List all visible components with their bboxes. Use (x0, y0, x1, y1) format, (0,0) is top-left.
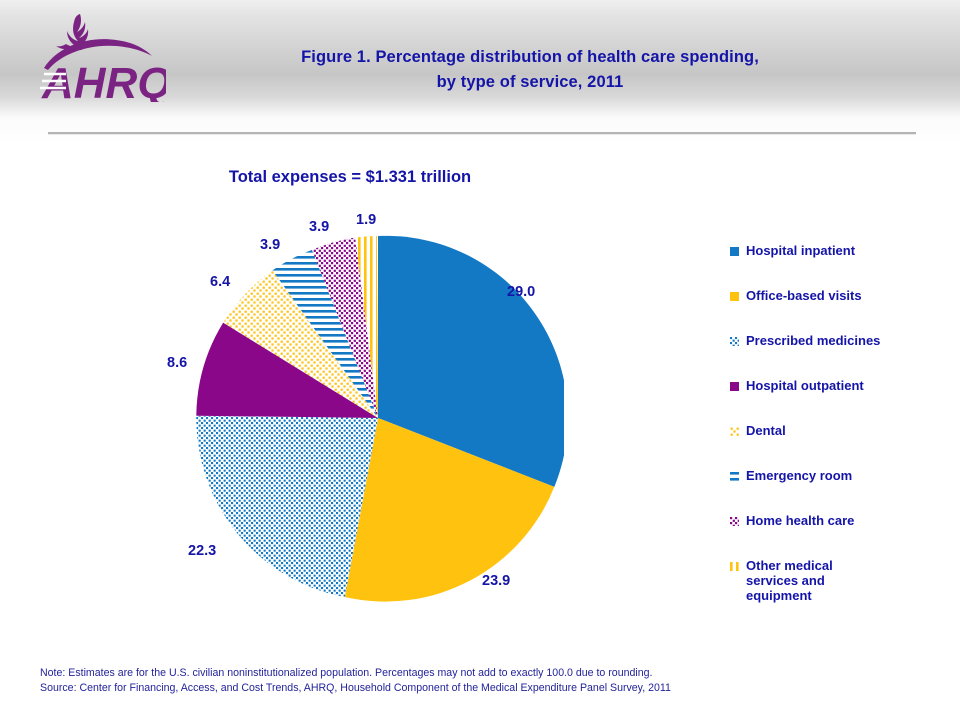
pie-data-label-dental: 6.4 (210, 274, 230, 290)
figure-title-line1: Figure 1. Percentage distribution of hea… (180, 45, 880, 70)
ahrq-logo-graphic: AHRQ (36, 6, 166, 102)
legend-item-office-based-visits[interactable]: Office-based visits (730, 288, 952, 333)
pie-data-label-office-based-visits: 23.9 (482, 573, 510, 589)
legend-item-other-medical[interactable]: Other medical services and equipment (730, 558, 952, 603)
header-fade (0, 118, 960, 144)
legend-label-hospital-inpatient: Hospital inpatient (746, 243, 855, 258)
legend-swatch-emergency-room-icon (730, 472, 739, 481)
pie-data-label-emergency-room: 3.9 (260, 237, 280, 253)
legend-swatch-hospital-outpatient-icon (730, 382, 739, 391)
footnotes: Note: Estimates are for the U.S. civilia… (40, 666, 940, 696)
pie-data-label-hospital-inpatient: 29.0 (507, 284, 535, 300)
chart-legend: Hospital inpatient Office-based visits P… (730, 243, 952, 603)
legend-swatch-hospital-inpatient-icon (730, 247, 739, 256)
chart-subtitle: Total expenses = $1.331 trillion (0, 168, 700, 187)
ahrq-wordmark: AHRQ (40, 59, 166, 102)
footnote-source: Source: Center for Financing, Access, an… (40, 681, 940, 696)
pie-data-label-prescribed-medicines: 22.3 (188, 543, 216, 559)
pie-chart: 29.0 23.9 22.3 8.6 6.4 3.9 3.9 1.9 (196, 232, 564, 604)
legend-label-prescribed-medicines: Prescribed medicines (746, 333, 880, 348)
legend-swatch-dental-icon (730, 427, 739, 436)
ahrq-logo: AHRQ (36, 6, 166, 102)
legend-swatch-office-based-visits-icon (730, 292, 739, 301)
legend-item-emergency-room[interactable]: Emergency room (730, 468, 952, 513)
legend-item-prescribed-medicines[interactable]: Prescribed medicines (730, 333, 952, 378)
figure-title: Figure 1. Percentage distribution of hea… (180, 45, 880, 95)
legend-item-hospital-inpatient[interactable]: Hospital inpatient (730, 243, 952, 288)
pie-data-label-hospital-outpatient: 8.6 (167, 355, 187, 371)
legend-swatch-other-medical-icon (730, 562, 739, 571)
legend-label-home-health-care: Home health care (746, 513, 854, 528)
legend-item-home-health-care[interactable]: Home health care (730, 513, 952, 558)
legend-label-emergency-room: Emergency room (746, 468, 852, 483)
legend-label-other-medical: Other medical services and equipment (746, 558, 833, 603)
header-divider (48, 132, 916, 135)
legend-swatch-home-health-care-icon (730, 517, 739, 526)
legend-item-dental[interactable]: Dental (730, 423, 952, 468)
pie-data-label-home-health-care: 3.9 (309, 219, 329, 235)
legend-label-office-based-visits: Office-based visits (746, 288, 862, 303)
footnote-note: Note: Estimates are for the U.S. civilia… (40, 666, 940, 681)
legend-label-hospital-outpatient: Hospital outpatient (746, 378, 864, 393)
pie-data-label-other-medical: 1.9 (356, 212, 376, 228)
legend-swatch-prescribed-medicines-icon (730, 337, 739, 346)
figure-title-line2: by type of service, 2011 (180, 70, 880, 95)
legend-item-hospital-outpatient[interactable]: Hospital outpatient (730, 378, 952, 423)
legend-label-dental: Dental (746, 423, 786, 438)
